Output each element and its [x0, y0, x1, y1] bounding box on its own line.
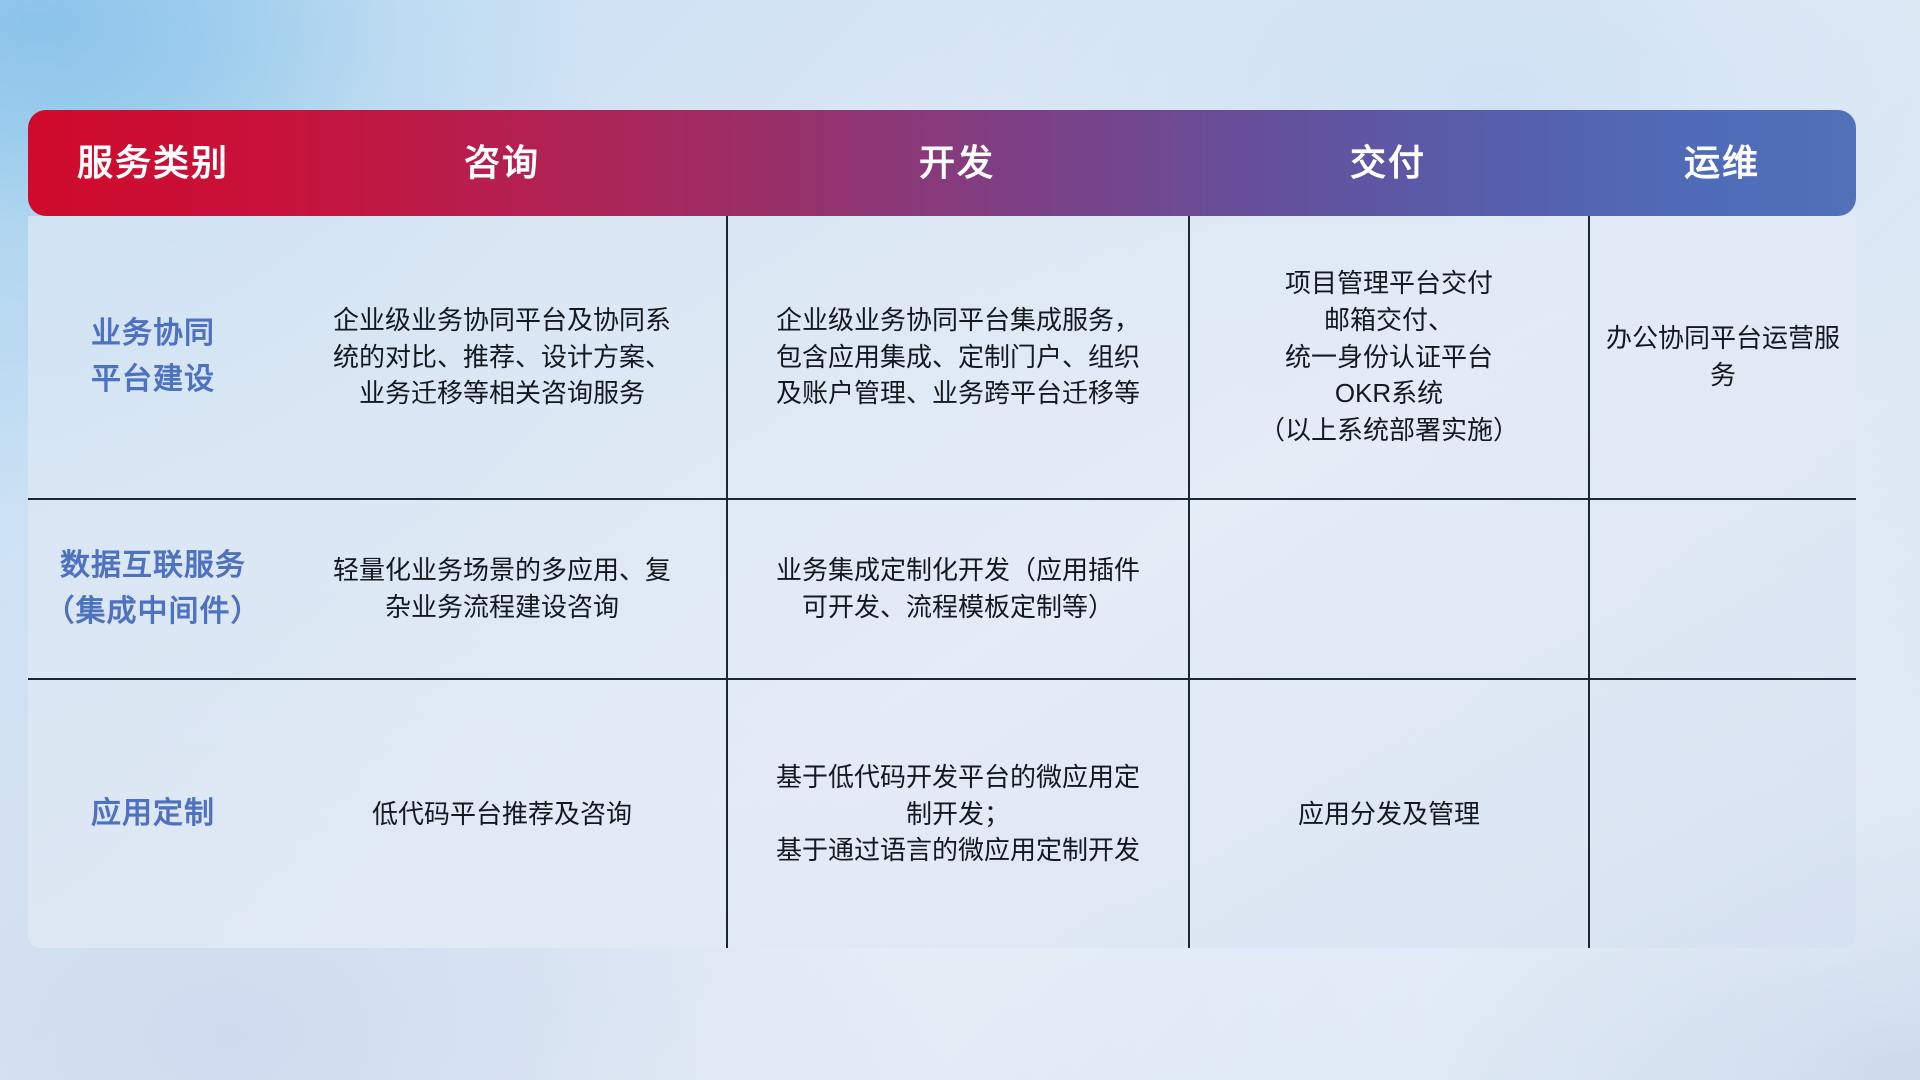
service-matrix-table: 服务类别 咨询 开发 交付 运维 业务协同 平台建设 企业级业务协同平台及协同系…	[28, 110, 1856, 948]
cell-operations	[1588, 680, 1856, 948]
cell-consulting: 企业级业务协同平台及协同系 统的对比、推荐、设计方案、 业务迁移等相关咨询服务	[278, 216, 726, 498]
cell-delivery	[1188, 500, 1588, 678]
cell-consulting: 低代码平台推荐及咨询	[278, 680, 726, 948]
cell-delivery: 应用分发及管理	[1188, 680, 1588, 948]
table-body: 业务协同 平台建设 企业级业务协同平台及协同系 统的对比、推荐、设计方案、 业务…	[28, 216, 1856, 948]
row-category-label: 应用定制	[28, 680, 278, 948]
column-header-development: 开发	[726, 110, 1188, 216]
row-category-label: 业务协同 平台建设	[28, 216, 278, 498]
cell-delivery: 项目管理平台交付 邮箱交付、 统一身份认证平台 OKR系统 （以上系统部署实施）	[1188, 216, 1588, 498]
table-row: 应用定制 低代码平台推荐及咨询 基于低代码开发平台的微应用定 制开发； 基于通过…	[28, 678, 1856, 948]
column-header-consulting: 咨询	[278, 110, 726, 216]
cell-operations: 办公协同平台运营服务	[1588, 216, 1856, 498]
table-header-row: 服务类别 咨询 开发 交付 运维	[28, 110, 1856, 216]
column-header-category: 服务类别	[28, 110, 278, 216]
row-category-label: 数据互联服务 （集成中间件）	[28, 500, 278, 678]
column-header-operations: 运维	[1588, 110, 1856, 216]
table-row: 数据互联服务 （集成中间件） 轻量化业务场景的多应用、复 杂业务流程建设咨询 业…	[28, 498, 1856, 678]
cell-operations	[1588, 500, 1856, 678]
column-header-delivery: 交付	[1188, 110, 1588, 216]
cell-development: 业务集成定制化开发（应用插件 可开发、流程模板定制等）	[726, 500, 1188, 678]
cell-development: 企业级业务协同平台集成服务， 包含应用集成、定制门户、组织 及账户管理、业务跨平…	[726, 216, 1188, 498]
table-row: 业务协同 平台建设 企业级业务协同平台及协同系 统的对比、推荐、设计方案、 业务…	[28, 216, 1856, 498]
cell-consulting: 轻量化业务场景的多应用、复 杂业务流程建设咨询	[278, 500, 726, 678]
cell-development: 基于低代码开发平台的微应用定 制开发； 基于通过语言的微应用定制开发	[726, 680, 1188, 948]
